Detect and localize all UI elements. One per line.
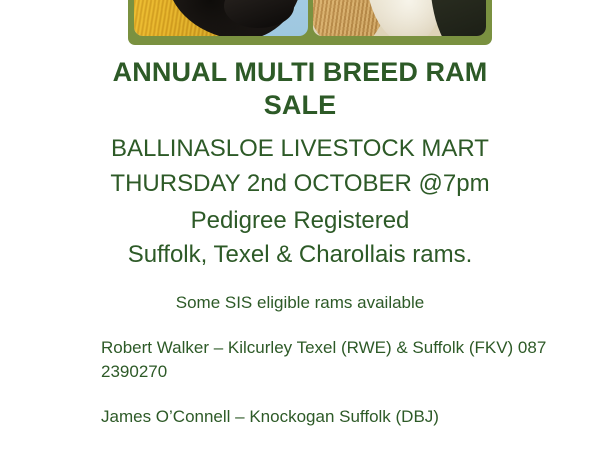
ram-sale-poster: ANNUAL MULTI BREED RAM SALE BALLINASLOE …: [0, 0, 600, 450]
datetime-text: THURSDAY 2nd OCTOBER @7pm: [0, 168, 600, 200]
background-shadow-shape: [430, 0, 486, 36]
page-title: ANNUAL MULTI BREED RAM SALE: [80, 56, 520, 122]
contacts-list: Robert Walker – Kilcurley Texel (RWE) & …: [0, 336, 600, 429]
suffolk-ram-photo: [134, 0, 308, 36]
contact-line: Robert Walker – Kilcurley Texel (RWE) & …: [101, 336, 558, 384]
breeds-text: Suffolk, Texel & Charollais rams.: [0, 238, 600, 272]
venue-text: BALLINASLOE LIVESTOCK MART: [0, 129, 600, 168]
white-faced-ram-photo: [313, 0, 487, 36]
sis-note-text: Some SIS eligible rams available: [0, 291, 600, 315]
photo-banner: [128, 0, 492, 45]
pedigree-text: Pedigree Registered: [0, 204, 600, 238]
contact-line: James O’Connell – Knockogan Suffolk (DBJ…: [101, 405, 558, 429]
poster-text-content: ANNUAL MULTI BREED RAM SALE BALLINASLOE …: [0, 0, 600, 429]
